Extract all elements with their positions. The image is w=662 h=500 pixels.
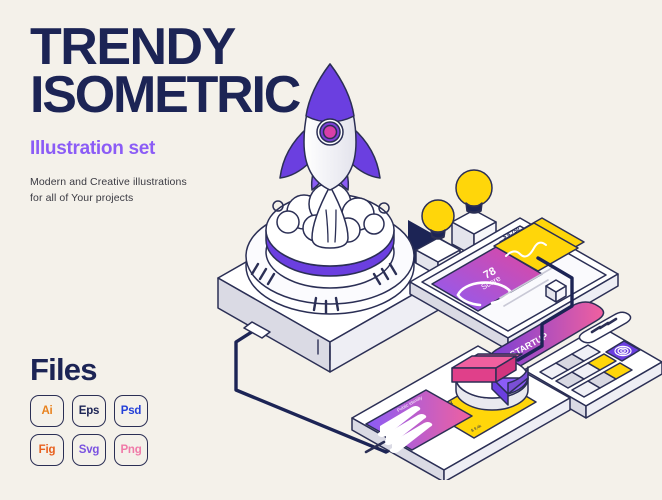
file-badge-svg[interactable]: Svg — [72, 434, 106, 466]
file-badge-ai[interactable]: Ai — [30, 395, 64, 427]
idea-bulb-large — [456, 170, 492, 213]
file-badge-fig[interactable]: Fig — [30, 434, 64, 466]
pie-chart-3d — [452, 354, 528, 410]
file-format-badges: Ai Eps Psd Fig Svg Png — [30, 395, 148, 466]
file-badge-eps[interactable]: Eps — [72, 395, 106, 427]
file-badge-psd[interactable]: Psd — [114, 395, 148, 427]
isometric-illustration: 78 Score $ 8,750 STARTUP — [200, 60, 662, 480]
files-heading: Files — [30, 352, 97, 388]
poster-canvas: TRENDY ISOMETRIC Illustration set Modern… — [0, 0, 662, 500]
file-badge-png[interactable]: Png — [114, 434, 148, 466]
